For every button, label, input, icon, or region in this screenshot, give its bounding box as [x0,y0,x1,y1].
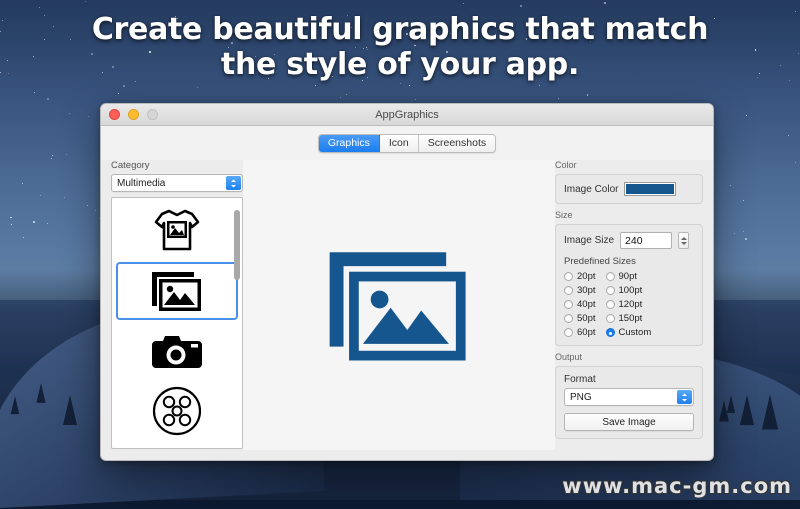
save-image-button[interactable]: Save Image [564,413,694,431]
color-panel: Image Color [555,174,703,204]
stepper-down-icon[interactable] [681,242,687,245]
window-body: Category Multimedia [101,160,713,460]
image-size-row: Image Size 240 [564,232,694,249]
tab-screenshots[interactable]: Screenshots [419,135,495,152]
radio-60pt[interactable]: 60pt [564,327,596,338]
chevron-down-icon[interactable] [677,390,692,404]
app-window: AppGraphics Graphics Icon Screenshots Ca… [100,103,714,461]
radio-30pt[interactable]: 30pt [564,285,596,296]
output-section-label: Output [555,352,703,362]
radio-label: 50pt [577,313,596,324]
radio-label: 120pt [619,299,643,310]
radio-custom[interactable]: Custom [606,327,652,338]
camera-icon [148,330,206,372]
radio-dot[interactable] [564,314,573,323]
image-color-label: Image Color [564,184,618,195]
category-thumbnail-list[interactable] [111,197,243,449]
category-list-scrollbar[interactable] [234,202,240,444]
output-panel: Format PNG Save Image [555,366,703,439]
radio-label: 100pt [619,285,643,296]
predefined-sizes-radiogroup: 20pt 30pt 40pt [564,271,694,338]
radio-100pt[interactable]: 100pt [606,285,652,296]
tab-graphics[interactable]: Graphics [319,135,380,152]
radio-150pt[interactable]: 150pt [606,313,652,324]
size-section-label: Size [555,210,703,220]
radio-dot[interactable] [564,286,573,295]
tab-bar: Graphics Icon Screenshots [101,126,713,160]
window-title: AppGraphics [101,109,713,121]
segmented-tabs: Graphics Icon Screenshots [318,134,496,153]
radio-label: 40pt [577,299,596,310]
stacked-photos-icon [146,268,208,314]
radio-dot[interactable] [606,286,615,295]
marketing-headline: Create beautiful graphics that match the… [0,12,800,83]
scrollbar-thumb[interactable] [234,210,240,280]
category-sidebar: Category Multimedia [111,160,243,450]
traffic-lights [109,109,158,120]
category-dropdown-value: Multimedia [117,178,165,189]
stepper-up-icon[interactable] [681,237,687,240]
radio-label: 150pt [619,313,643,324]
stacked-photos-preview [313,235,485,375]
radio-dot[interactable] [606,300,615,309]
size-section: Size Image Size 240 Predefined Sizes [555,210,703,346]
radio-40pt[interactable]: 40pt [564,299,596,310]
predefined-sizes-label: Predefined Sizes [564,256,694,267]
tshirt-image-icon [148,209,206,253]
headline-line-1: Create beautiful graphics that match [0,12,800,47]
radio-label: 90pt [619,271,638,282]
format-dropdown[interactable]: PNG [564,388,694,406]
radio-label: 20pt [577,271,596,282]
site-watermark: www.mac-gm.com [562,474,792,498]
color-section: Color Image Color [555,160,703,204]
category-dropdown[interactable]: Multimedia [111,174,243,192]
format-dropdown-value: PNG [570,392,592,403]
image-size-label: Image Size [564,235,614,246]
predefined-sizes-column-right: 90pt 100pt 120pt [606,271,652,338]
film-reel-icon [149,385,205,437]
tab-icon[interactable]: Icon [380,135,419,152]
radio-50pt[interactable]: 50pt [564,313,596,324]
list-item-film-reel[interactable] [116,382,238,440]
size-panel: Image Size 240 Predefined Sizes 20pt [555,224,703,346]
radio-dot[interactable] [606,272,615,281]
radio-120pt[interactable]: 120pt [606,299,652,310]
settings-sidebar: Color Image Color Size Image Size 240 [555,160,703,450]
image-color-row: Image Color [564,182,694,196]
predefined-sizes-column-left: 20pt 30pt 40pt [564,271,596,338]
category-section-label: Category [111,160,243,171]
minimize-button[interactable] [128,109,139,120]
list-item-stacked-photos[interactable] [116,262,238,320]
image-size-input[interactable]: 240 [620,232,672,249]
chevron-down-icon[interactable] [226,176,241,190]
list-item-camera[interactable] [116,322,238,380]
radio-90pt[interactable]: 90pt [606,271,652,282]
image-color-swatch[interactable] [624,182,676,196]
headline-line-2: the style of your app. [0,47,800,82]
format-label: Format [564,374,694,385]
graphic-preview-area [243,160,555,450]
close-button[interactable] [109,109,120,120]
radio-dot[interactable] [606,314,615,323]
list-item-tshirt[interactable] [116,202,238,260]
radio-dot[interactable] [564,300,573,309]
radio-20pt[interactable]: 20pt [564,271,596,282]
output-section: Output Format PNG Save Image [555,352,703,439]
radio-dot[interactable] [606,328,615,337]
radio-dot[interactable] [564,272,573,281]
radio-label: 30pt [577,285,596,296]
image-size-stepper[interactable] [678,232,689,249]
window-titlebar[interactable]: AppGraphics [101,104,713,126]
radio-label: 60pt [577,327,596,338]
zoom-button [147,109,158,120]
color-section-label: Color [555,160,703,170]
radio-dot[interactable] [564,328,573,337]
radio-label: Custom [619,327,652,338]
